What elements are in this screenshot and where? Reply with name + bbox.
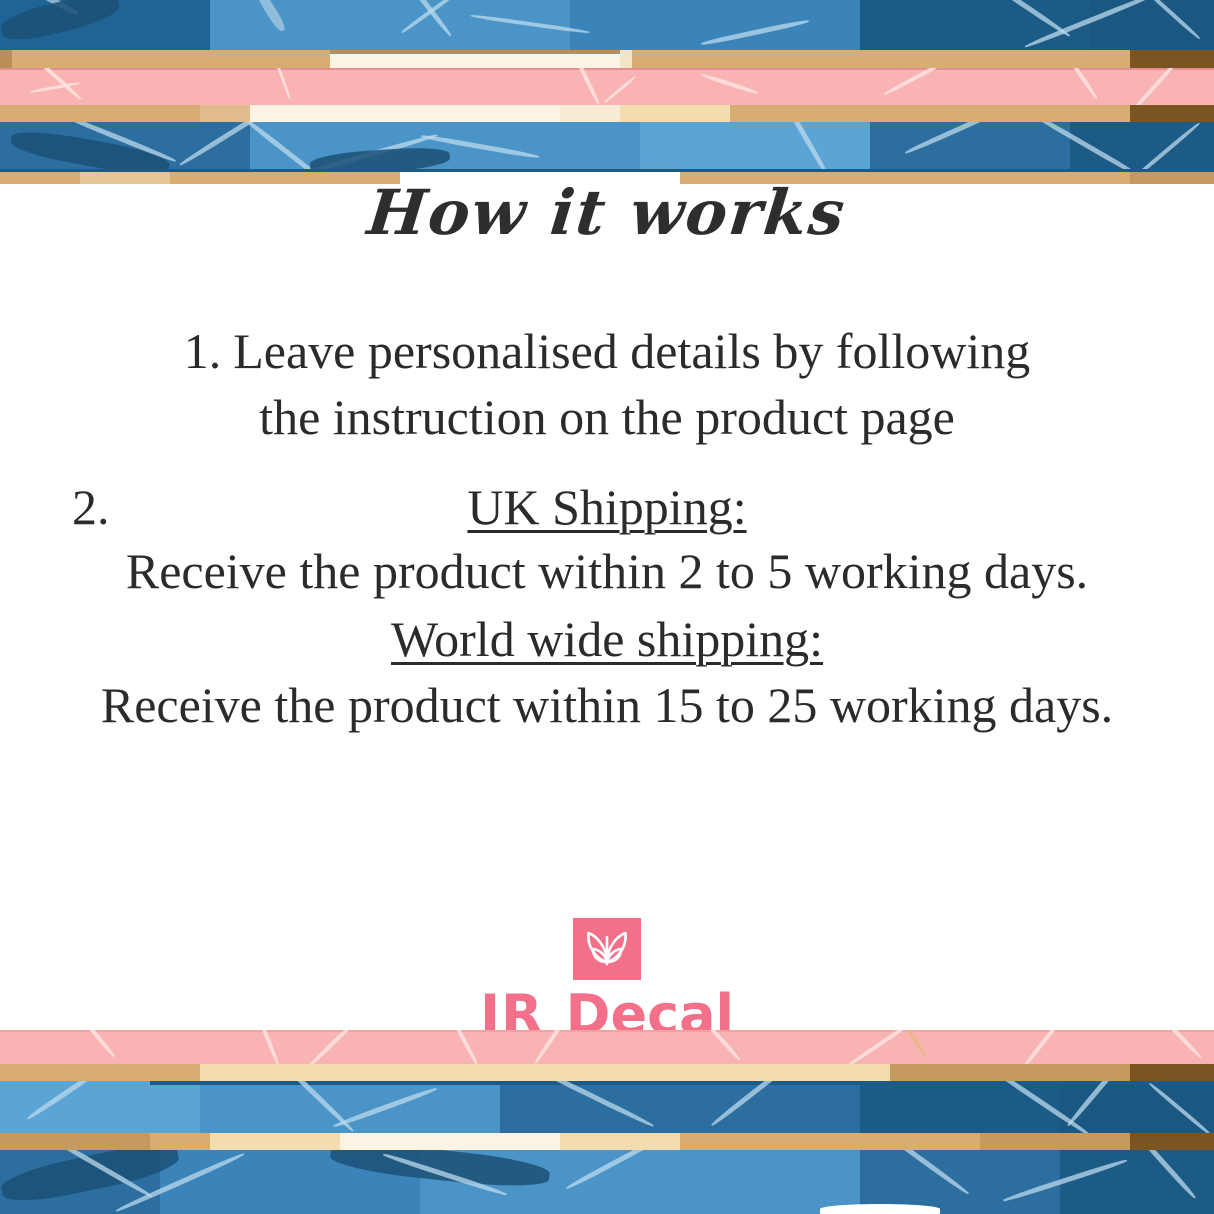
page-title: How it works (0, 176, 1214, 249)
step-1: 1. Leave personalised details by followi… (0, 322, 1214, 446)
poster-canvas: How it works 1. Leave personalised detai… (0, 0, 1214, 1214)
step-2: 2. UK Shipping: Receive the product with… (0, 478, 1214, 734)
pink-band-bottom (0, 1030, 1214, 1064)
top-decorative-border (0, 0, 1214, 184)
marble-band-top-2 (0, 122, 1214, 172)
step-2-world-heading: World wide shipping: (391, 611, 823, 667)
gold-stripe-top-1 (0, 50, 1214, 68)
gold-stripe-bottom-2 (0, 1133, 1214, 1150)
gold-stripe-top-2 (0, 105, 1214, 122)
marble-band-bottom-1 (0, 1081, 1214, 1133)
step-2-world-body: Receive the product within 15 to 25 work… (101, 677, 1113, 733)
gold-stripe-bottom-1 (0, 1064, 1214, 1081)
step-1-number: 1. (184, 322, 222, 380)
step-2-uk-body: Receive the product within 2 to 5 workin… (126, 543, 1088, 599)
step-2-uk-heading: UK Shipping: (0, 478, 1214, 536)
step-1-line-1: Leave personalised details by following (233, 322, 1030, 380)
page-title-text: How it works (364, 176, 850, 249)
butterfly-icon (573, 918, 641, 980)
pink-band-top (0, 68, 1214, 105)
marble-band-top (0, 0, 1214, 50)
step-1-line-2: the instruction on the product page (259, 389, 955, 445)
marble-band-bottom-2 (0, 1150, 1214, 1214)
bottom-decorative-border (0, 1030, 1214, 1214)
brand-logo: JR Decal (0, 918, 1214, 1046)
